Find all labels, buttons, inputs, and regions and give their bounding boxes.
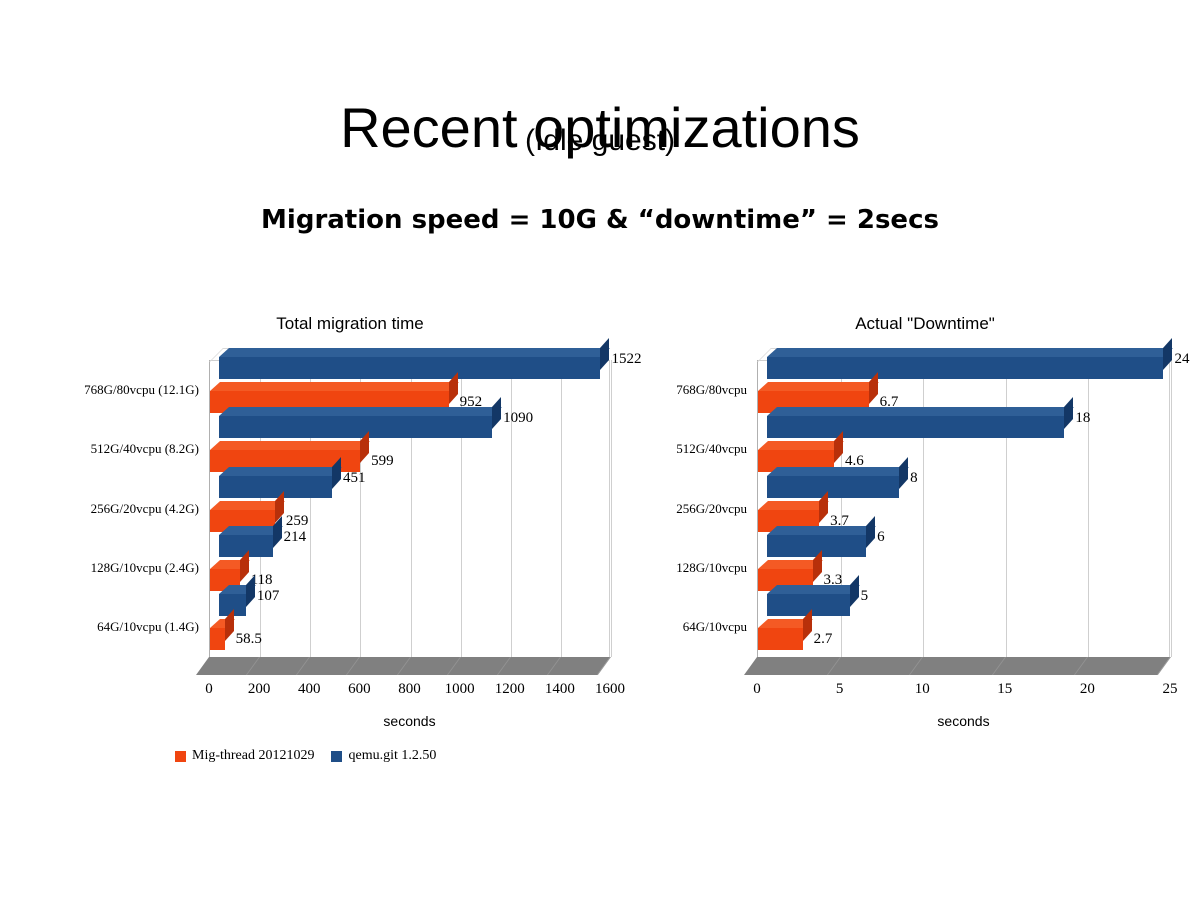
bar-front-face	[767, 476, 899, 498]
x-tick-label: 20	[1057, 681, 1117, 698]
bar-qemu-git: 8	[767, 476, 899, 498]
bar-value-label: 8	[910, 467, 918, 489]
bar-front-face	[219, 416, 492, 438]
bar-top-face	[758, 382, 879, 391]
legend-swatch-icon	[175, 751, 186, 762]
bar-top-face	[767, 585, 860, 594]
bar-qemu-git: 24	[767, 357, 1163, 379]
bar-top-face	[219, 467, 342, 476]
bar-qemu-git: 6	[767, 535, 866, 557]
legend-item: Mig-thread 20121029	[175, 748, 314, 764]
category-label: 128G/10vcpu (2.4G)	[49, 560, 199, 576]
bar-mig-thread: 2.7	[758, 628, 803, 650]
bar-top-face	[210, 441, 370, 450]
chart-floor	[196, 657, 610, 675]
gridline	[561, 360, 562, 657]
bar-value-label: 58.5	[236, 628, 262, 650]
gridline	[1171, 360, 1172, 657]
chart-title: Actual "Downtime"	[630, 314, 1200, 334]
x-tick-label: 10	[892, 681, 952, 698]
x-tick-label: 5	[810, 681, 870, 698]
migration-settings-note: Migration speed = 10G & “downtime” = 2se…	[0, 205, 1200, 235]
chart-total-migration-time: Total migration time 1522952109059945125…	[20, 300, 640, 780]
gridline	[611, 360, 612, 657]
bar-qemu-git: 1090	[219, 416, 492, 438]
bar-value-label: 599	[371, 450, 394, 472]
bar-front-face	[767, 416, 1064, 438]
chart-legend: Mig-thread 20121029qemu.git 1.2.50	[175, 748, 436, 764]
plot-area: 1522952109059945125921411810758.5	[209, 360, 610, 657]
bar-front-face	[758, 628, 803, 650]
category-label: 768G/80vcpu (12.1G)	[49, 382, 199, 398]
category-label: 512G/40vcpu	[627, 441, 747, 457]
legend-label: Mig-thread 20121029	[192, 748, 314, 764]
bar-mig-thread: 58.5	[210, 628, 225, 650]
gridline	[511, 360, 512, 657]
x-tick-label: 15	[975, 681, 1035, 698]
bar-front-face	[767, 357, 1163, 379]
chart-floor	[744, 657, 1170, 675]
gridline	[923, 360, 924, 657]
bar-value-label: 107	[257, 585, 280, 607]
bar-top-face	[758, 441, 844, 450]
x-axis-title: seconds	[757, 713, 1170, 729]
bar-top-face	[767, 407, 1074, 416]
legend-item: qemu.git 1.2.50	[331, 748, 436, 764]
bar-qemu-git: 451	[219, 476, 332, 498]
bar-value-label: 2.7	[814, 628, 833, 650]
bar-front-face	[767, 535, 866, 557]
bar-top-face	[767, 526, 876, 535]
page-subtitle: (Idle guest)	[0, 124, 1200, 158]
bar-value-label: 24	[1174, 348, 1189, 370]
gridline	[1006, 360, 1007, 657]
bar-qemu-git: 18	[767, 416, 1064, 438]
bar-value-label: 214	[284, 526, 307, 548]
bar-top-face	[210, 382, 459, 391]
x-tick-label: 25	[1140, 681, 1200, 698]
bar-top-face	[210, 501, 285, 510]
category-label: 768G/80vcpu	[627, 382, 747, 398]
bar-value-label: 451	[343, 467, 366, 489]
legend-swatch-icon	[331, 751, 342, 762]
category-label: 64G/10vcpu (1.4G)	[49, 619, 199, 635]
bar-top-face	[219, 407, 502, 416]
bar-value-label: 1090	[503, 407, 533, 429]
bar-value-label: 18	[1075, 407, 1090, 429]
bar-front-face	[210, 628, 225, 650]
bar-qemu-git: 1522	[219, 357, 600, 379]
gridline	[1088, 360, 1089, 657]
category-label: 256G/20vcpu	[627, 501, 747, 517]
chart-actual-downtime: Actual "Downtime" 246.7184.683.763.352.7…	[630, 300, 1200, 780]
category-label: 128G/10vcpu	[627, 560, 747, 576]
category-label: 512G/40vcpu (8.2G)	[49, 441, 199, 457]
bar-value-label: 5	[861, 585, 869, 607]
bar-front-face	[219, 357, 600, 379]
category-label: 64G/10vcpu	[627, 619, 747, 635]
category-label: 256G/20vcpu (4.2G)	[49, 501, 199, 517]
bar-top-face	[219, 348, 610, 357]
bar-front-face	[219, 476, 332, 498]
bar-top-face	[767, 348, 1173, 357]
bar-top-face	[767, 467, 909, 476]
floor-face	[744, 657, 1170, 675]
x-axis-title: seconds	[209, 713, 610, 729]
plot-area: 246.7184.683.763.352.7	[757, 360, 1170, 657]
chart-title: Total migration time	[20, 314, 660, 334]
bar-value-label: 6	[877, 526, 885, 548]
x-tick-label: 0	[727, 681, 787, 698]
legend-label: qemu.git 1.2.50	[348, 748, 436, 764]
